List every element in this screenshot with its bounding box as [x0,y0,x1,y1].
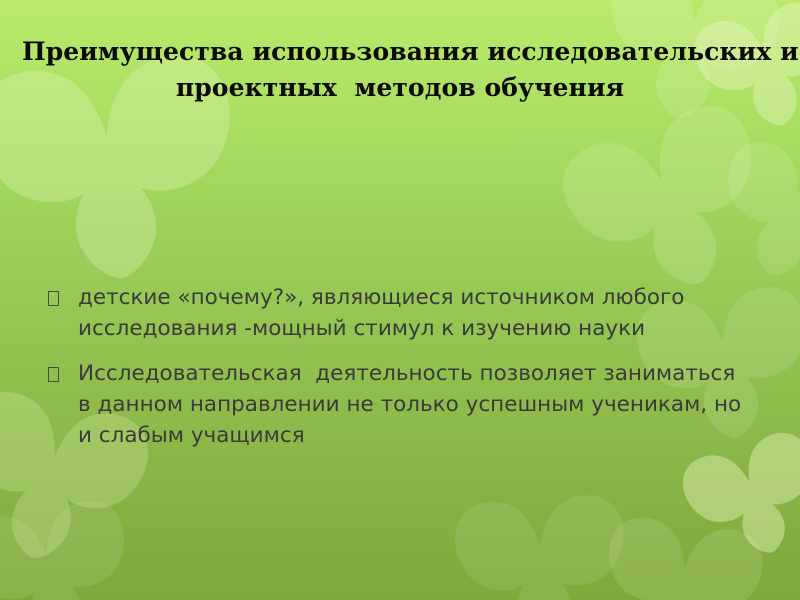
slide-title: Преимущества использования исследователь… [0,34,800,106]
title-line-2: проектных методов обучения [0,70,800,106]
slide-canvas: Преимущества использования исследователь… [0,0,800,600]
list-item-text: детские «почему?», являющиеся источником… [78,282,748,344]
tofu-box-icon [48,282,78,313]
bullet-list: детские «почему?», являющиеся источником… [48,282,748,465]
butterfly-bottom-center [449,489,636,600]
list-item-text: Исследовательская деятельность позволяет… [78,358,748,451]
butterfly-bottom-right-faint [590,510,771,600]
list-item: Исследовательская деятельность позволяет… [48,358,748,451]
tofu-box-icon [48,358,78,389]
butterfly-bottom-left-faint [0,492,148,600]
title-line-1: Преимущества использования исследователь… [0,34,800,70]
list-item: детские «почему?», являющиеся источником… [48,282,748,344]
